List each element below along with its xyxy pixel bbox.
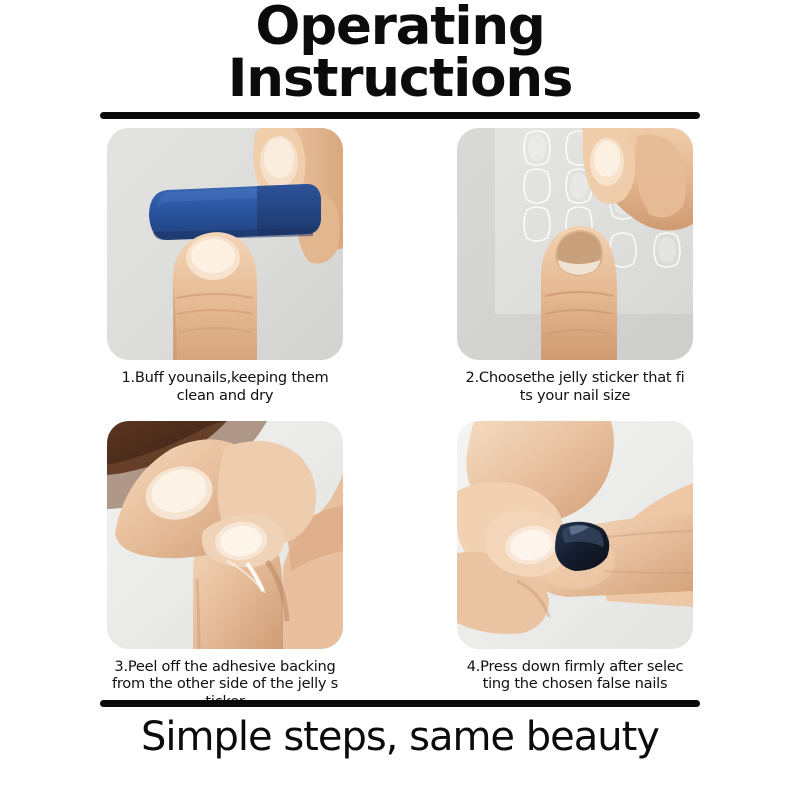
step-card-4: 4.Press down firmly after selec ting the… bbox=[457, 421, 693, 711]
steps-row-2: 3.Peel off the adhesive backing from the… bbox=[0, 421, 800, 711]
step-1-caption: 1.Buff younails,keeping them clean and d… bbox=[107, 369, 343, 405]
step-card-3: 3.Peel off the adhesive backing from the… bbox=[107, 421, 343, 711]
step-1-caption-line-2: clean and dry bbox=[109, 387, 341, 405]
title-line-1: Operating bbox=[0, 2, 800, 52]
divider-bottom bbox=[100, 700, 700, 707]
footer-tagline: Simple steps, same beauty bbox=[0, 714, 800, 760]
step-card-2: 2.Choosethe jelly sticker that fi ts you… bbox=[457, 128, 693, 405]
step-2-caption-line-2: ts your nail size bbox=[459, 387, 691, 405]
step-4-caption: 4.Press down firmly after selec ting the… bbox=[457, 658, 693, 694]
instructions-poster: Operating Instructions bbox=[0, 0, 800, 800]
step-2-caption: 2.Choosethe jelly sticker that fi ts you… bbox=[457, 369, 693, 405]
step-3-caption-line-1: 3.Peel off the adhesive backing bbox=[109, 658, 341, 676]
title-line-2: Instructions bbox=[0, 54, 800, 104]
step-card-1: 1.Buff younails,keeping them clean and d… bbox=[107, 128, 343, 405]
footer-tagline-text: Simple steps, same beauty bbox=[0, 714, 800, 760]
steps-grid: 1.Buff younails,keeping them clean and d… bbox=[0, 128, 800, 711]
step-4-caption-line-1: 4.Press down firmly after selec bbox=[459, 658, 691, 676]
step-2-photo bbox=[457, 128, 693, 360]
step-3-photo bbox=[107, 421, 343, 649]
step-3-caption-line-2: from the other side of the jelly s bbox=[109, 675, 341, 693]
step-4-photo bbox=[457, 421, 693, 649]
step-1-caption-line-1: 1.Buff younails,keeping them bbox=[109, 369, 341, 387]
step-1-photo bbox=[107, 128, 343, 360]
divider-top bbox=[100, 112, 700, 119]
step-2-caption-line-1: 2.Choosethe jelly sticker that fi bbox=[459, 369, 691, 387]
page-title: Operating Instructions bbox=[0, 2, 800, 105]
step-4-caption-line-2: ting the chosen false nails bbox=[459, 675, 691, 693]
steps-row-1: 1.Buff younails,keeping them clean and d… bbox=[0, 128, 800, 405]
